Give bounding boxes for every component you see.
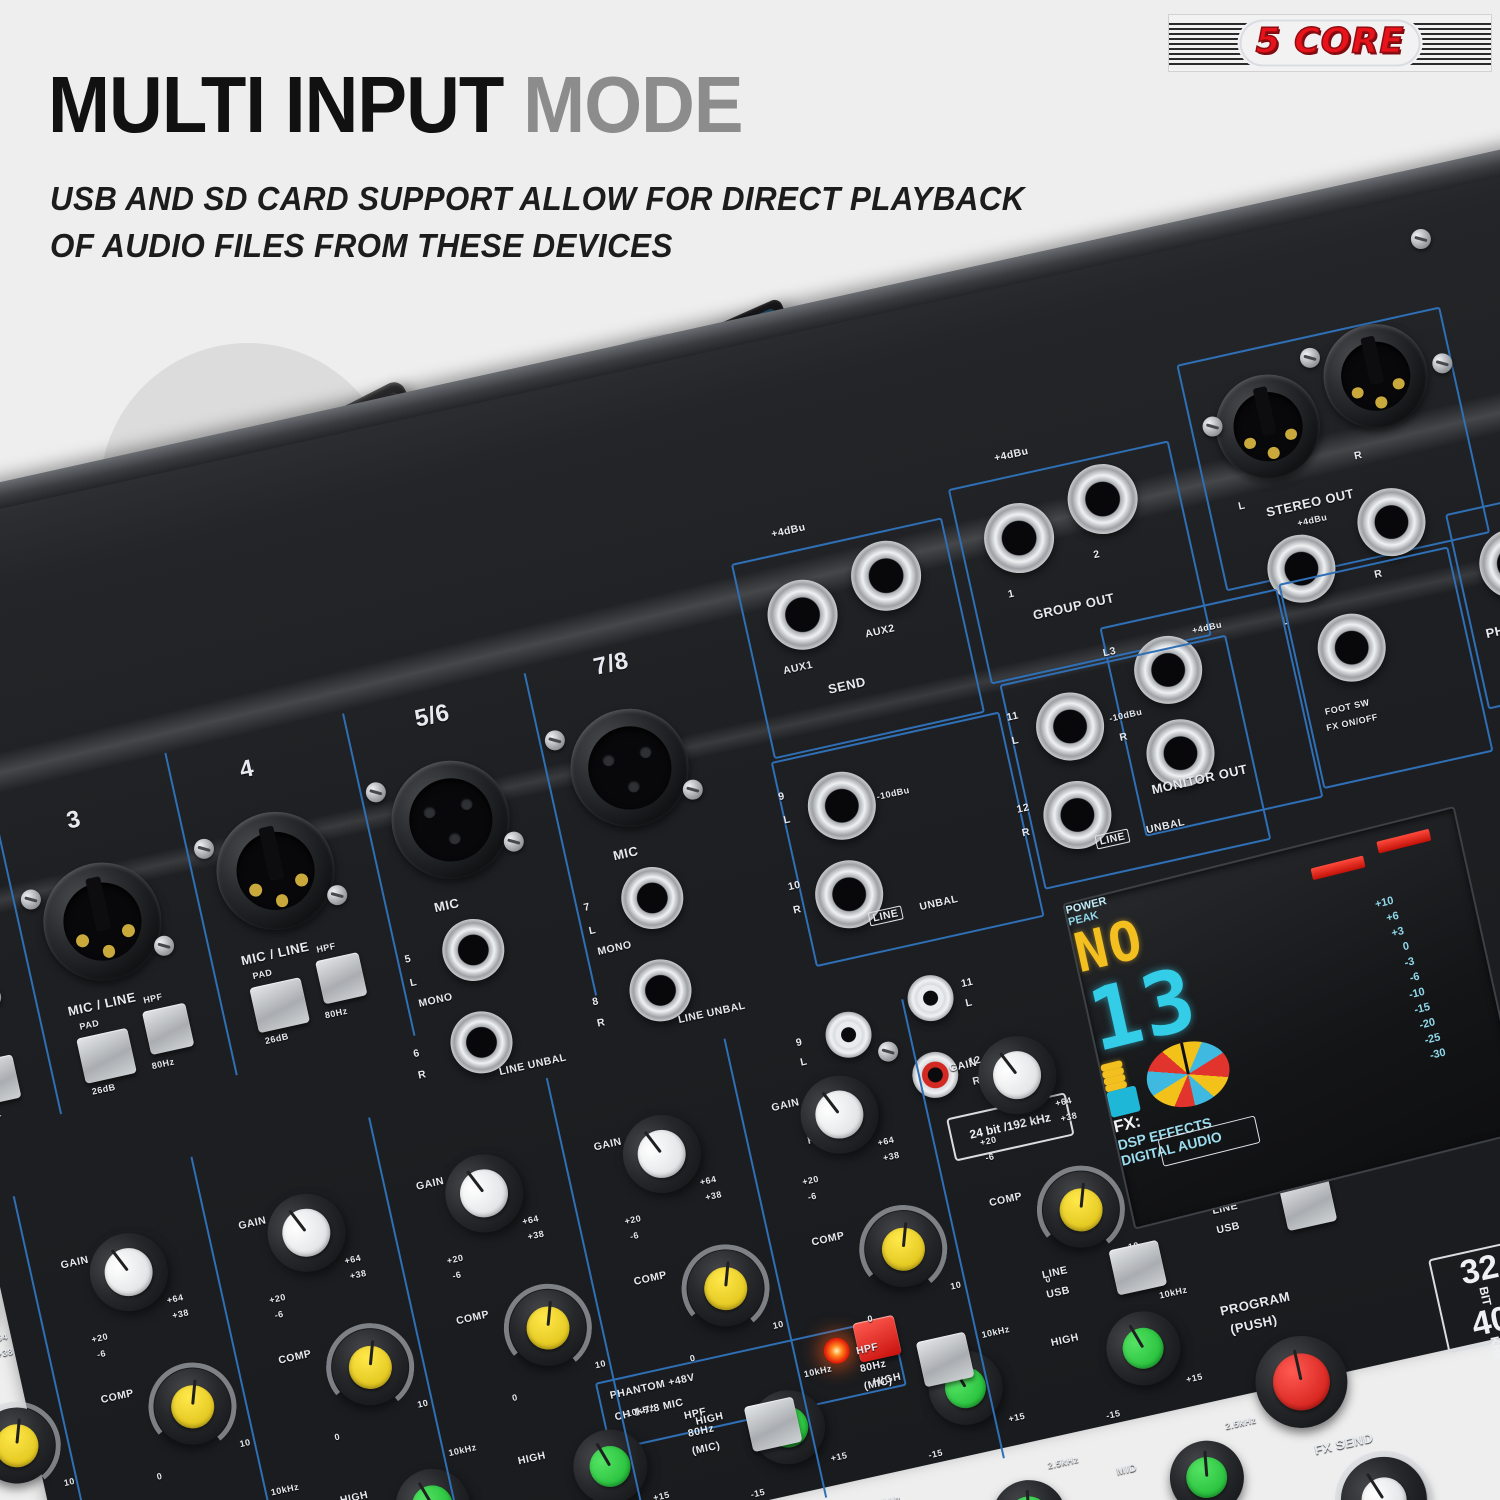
high-max-4: +15: [830, 1450, 849, 1463]
comp-max-0: 10: [63, 1476, 76, 1488]
bit-rate-badge: 32BIT40KHz: [1428, 1239, 1500, 1354]
hpf-switch-3[interactable]: [142, 1003, 194, 1055]
gain-max2-6: +38: [1060, 1110, 1079, 1123]
gain-label-2: GAIN: [237, 1214, 267, 1232]
gain-max-4: +64: [699, 1174, 718, 1187]
high-knob-6[interactable]: [1093, 1298, 1194, 1399]
comp-min-1: 0: [156, 1471, 164, 1482]
high-min-6: -15: [1105, 1408, 1121, 1421]
panel-screw: [1409, 227, 1433, 251]
hpf-mic-label-c-0: (MIC): [691, 1439, 722, 1457]
gain-knob-4[interactable]: [607, 1099, 716, 1208]
high-label-2: HIGH: [339, 1489, 369, 1500]
mid-label-6: MID: [1115, 1462, 1138, 1478]
comp-min-4: 0: [689, 1353, 697, 1364]
gain-min2-5: -6: [807, 1191, 818, 1203]
comp-label-1: COMP: [100, 1387, 135, 1406]
line-switch-label-0: LINE: [1041, 1264, 1069, 1281]
high-min-4: -15: [750, 1487, 766, 1500]
channel-divider-7/8: [524, 673, 597, 996]
high-knob-2[interactable]: [382, 1455, 483, 1500]
channel-number-5/6: 5/6: [412, 699, 452, 734]
rca-num-9: 9: [795, 1036, 804, 1049]
high-freq-5: 10kHz: [981, 1324, 1011, 1340]
gain-max-1: +64: [166, 1292, 185, 1305]
jack-mono-label: MONO: [596, 939, 632, 958]
poster-canvas: 5 CORE MULTI INPUT MODE USB AND SD CARD …: [0, 0, 1500, 1500]
gain-min-2: +20: [268, 1292, 287, 1305]
logo-badge: 5 CORE: [1240, 20, 1421, 67]
usb-switch-label-1: USB: [1215, 1220, 1241, 1237]
channel-number-3: 3: [64, 805, 84, 835]
gain-label-3: GAIN: [415, 1175, 445, 1193]
pad-switch-3[interactable]: [76, 1028, 137, 1084]
high-max-6: +15: [1185, 1371, 1204, 1384]
jack-side-L: L: [409, 976, 418, 989]
gain-knob-1[interactable]: [74, 1217, 183, 1326]
rca-jack-12-R[interactable]: [908, 1047, 963, 1102]
comp-label-6: COMP: [988, 1190, 1023, 1209]
comp-knob-5[interactable]: [862, 1208, 945, 1291]
jack-mono-label: MONO: [417, 991, 453, 1010]
hpf-switch-4[interactable]: [315, 952, 367, 1004]
audio-mixer: 2MIC / LINEPAD26dBHPF80Hz3MIC / LINEPAD2…: [0, 135, 1500, 1500]
comp-max-5: 10: [949, 1279, 962, 1291]
comp-label-3: COMP: [455, 1308, 490, 1327]
panel-screw: [543, 728, 567, 752]
gain-min2-2: -6: [274, 1309, 285, 1321]
high-freq-1: 10kHz: [270, 1482, 300, 1498]
jack-side-R: R: [417, 1068, 427, 1081]
xlr-input-7/8[interactable]: [559, 697, 700, 838]
xlr-input-4[interactable]: [205, 801, 346, 942]
gain-max2-3: +38: [527, 1228, 546, 1241]
channel-number-4: 4: [237, 755, 257, 785]
hpf-label: HPF: [142, 991, 163, 1005]
comp-knob-3[interactable]: [506, 1286, 589, 1369]
gain-knob-2[interactable]: [252, 1178, 361, 1287]
title-secondary: MODE: [523, 60, 742, 149]
aux-send-level: +4dBu: [770, 521, 807, 540]
brand-logo: 5 CORE: [1168, 14, 1492, 72]
jack-num-6: 6: [412, 1047, 421, 1060]
channel-number-7/8: 7/8: [591, 647, 631, 682]
rca-num-11: 11: [960, 976, 974, 990]
gain-min2-1: -6: [96, 1348, 107, 1360]
gain-max-6: +64: [1054, 1095, 1073, 1108]
jack-side-L: L: [588, 924, 597, 937]
channel-label-7/8: MIC: [612, 843, 640, 863]
program-label-2: (PUSH): [1229, 1312, 1279, 1337]
comp-min-2: 0: [333, 1431, 341, 1442]
program-label-1: PROGRAM: [1219, 1289, 1292, 1319]
panel-screw: [0, 986, 3, 1010]
program-knob-left[interactable]: [1247, 1327, 1357, 1437]
comp-min-5: 0: [867, 1313, 875, 1324]
channel-label-5/6: MIC: [433, 895, 461, 915]
usb-switch-label-0: USB: [1045, 1284, 1071, 1301]
comp-label-4: COMP: [633, 1269, 668, 1288]
gain-max-5: +64: [877, 1134, 896, 1147]
channel-label-4: MIC / LINE: [240, 939, 311, 969]
comp-max-1: 10: [239, 1437, 252, 1449]
title-primary: MULTI INPUT: [48, 60, 503, 149]
jack-7[interactable]: [615, 861, 689, 935]
gain-min2-4: -6: [629, 1230, 640, 1242]
pad-switch-4[interactable]: [249, 977, 310, 1033]
high-label-6: HIGH: [1050, 1331, 1080, 1349]
high-min-5: -15: [927, 1447, 943, 1460]
gain-max2-0: +38: [0, 1346, 14, 1359]
gain-max2-4: +38: [704, 1189, 723, 1202]
page-title: MULTI INPUT MODE: [48, 66, 743, 144]
comp-max-2: 10: [416, 1398, 429, 1410]
gain-min-4: +20: [624, 1213, 643, 1226]
jack-side-R: R: [596, 1016, 606, 1029]
jack-num-7: 7: [583, 901, 592, 914]
mid-knob-6[interactable]: [1167, 1438, 1247, 1500]
high-freq-6: 10kHz: [1158, 1285, 1188, 1301]
pad-value: 26dB: [264, 1031, 290, 1046]
panel-screw: [192, 837, 216, 861]
mixer-panel: 2MIC / LINEPAD26dBHPF80Hz3MIC / LINEPAD2…: [0, 135, 1500, 1500]
gain-label-4: GAIN: [593, 1136, 623, 1154]
mid-freq-4: 2.5kHz: [869, 1494, 902, 1500]
jack-num-5: 5: [404, 953, 413, 966]
pad-value: 26dB: [91, 1082, 117, 1097]
comp-label-5: COMP: [810, 1230, 845, 1249]
mid-freq-5: 2.5kHz: [1047, 1454, 1080, 1471]
pad-label: PAD: [252, 967, 274, 981]
pad-label: PAD: [79, 1018, 101, 1032]
gain-max-2: +64: [344, 1253, 363, 1266]
hpf-value: 80Hz: [324, 1006, 349, 1021]
rca-jack-9-L[interactable]: [821, 1007, 876, 1062]
hpf-switch-2[interactable]: [0, 1054, 21, 1106]
panel-screw: [364, 780, 388, 804]
xlr-input-5/6[interactable]: [380, 749, 521, 890]
gain-label-1: GAIN: [60, 1254, 90, 1272]
panel-screw: [876, 1040, 900, 1064]
comp-label-2: COMP: [277, 1348, 312, 1367]
gain-min2-6: -6: [984, 1151, 995, 1163]
comp-max-4: 10: [772, 1319, 785, 1331]
line-usb-switch-0[interactable]: [1108, 1240, 1167, 1296]
group-out-level: +4dBu: [993, 445, 1030, 464]
page-subtitle: USB AND SD CARD SUPPORT ALLOW FOR DIRECT…: [50, 176, 1025, 270]
high-label-3: HIGH: [517, 1449, 547, 1467]
gain-max2-1: +38: [171, 1307, 190, 1320]
gain-min2-3: -6: [451, 1269, 462, 1281]
gain-knob-5[interactable]: [785, 1060, 894, 1169]
comp-knob-2[interactable]: [329, 1326, 412, 1409]
gain-label-5: GAIN: [770, 1096, 800, 1114]
jack-5[interactable]: [436, 913, 510, 987]
gain-max2-2: +38: [349, 1268, 368, 1281]
high-knob-1[interactable]: [204, 1495, 305, 1500]
gain-max2-5: +38: [882, 1150, 901, 1163]
logo-text: 5 CORE: [1256, 25, 1405, 60]
comp-knob-4[interactable]: [684, 1247, 767, 1330]
gain-knob-3[interactable]: [430, 1139, 539, 1248]
line-num-11: 11: [1005, 710, 1019, 724]
comp-knob-0[interactable]: [0, 1404, 58, 1487]
comp-max-3: 10: [594, 1358, 607, 1370]
gain-max-0: +64: [0, 1331, 9, 1344]
comp-knob-1[interactable]: [151, 1365, 234, 1448]
jack-num-8: 8: [591, 995, 600, 1008]
rca-jack-11-L[interactable]: [903, 971, 958, 1026]
rca-side-9: L: [799, 1055, 808, 1068]
xlr-input-3[interactable]: [32, 851, 173, 992]
gain-max-3: +64: [521, 1213, 540, 1226]
high-max-3: +15: [652, 1489, 671, 1500]
high-freq-2: 10kHz: [448, 1442, 478, 1458]
comp-min-3: 0: [511, 1392, 519, 1403]
gain-min-1: +20: [91, 1331, 110, 1344]
channel-label-3: MIC / LINE: [66, 989, 137, 1019]
mid-freq-6: 2.5kHz: [1224, 1415, 1257, 1432]
hpf-value: 80Hz: [0, 1108, 2, 1123]
comp-knob-6[interactable]: [1039, 1168, 1122, 1251]
rca-side-11: L: [964, 996, 973, 1009]
line-side-12: R: [1021, 826, 1031, 839]
high-max-5: +15: [1007, 1411, 1026, 1424]
line-side-10: R: [792, 903, 802, 916]
hpf-value: 80Hz: [151, 1056, 176, 1071]
hpf-label: HPF: [315, 941, 336, 955]
panel-screw: [19, 888, 43, 912]
gain-min-3: +20: [446, 1253, 465, 1266]
gain-min-5: +20: [801, 1174, 820, 1187]
mid-knob-5[interactable]: [989, 1477, 1069, 1500]
